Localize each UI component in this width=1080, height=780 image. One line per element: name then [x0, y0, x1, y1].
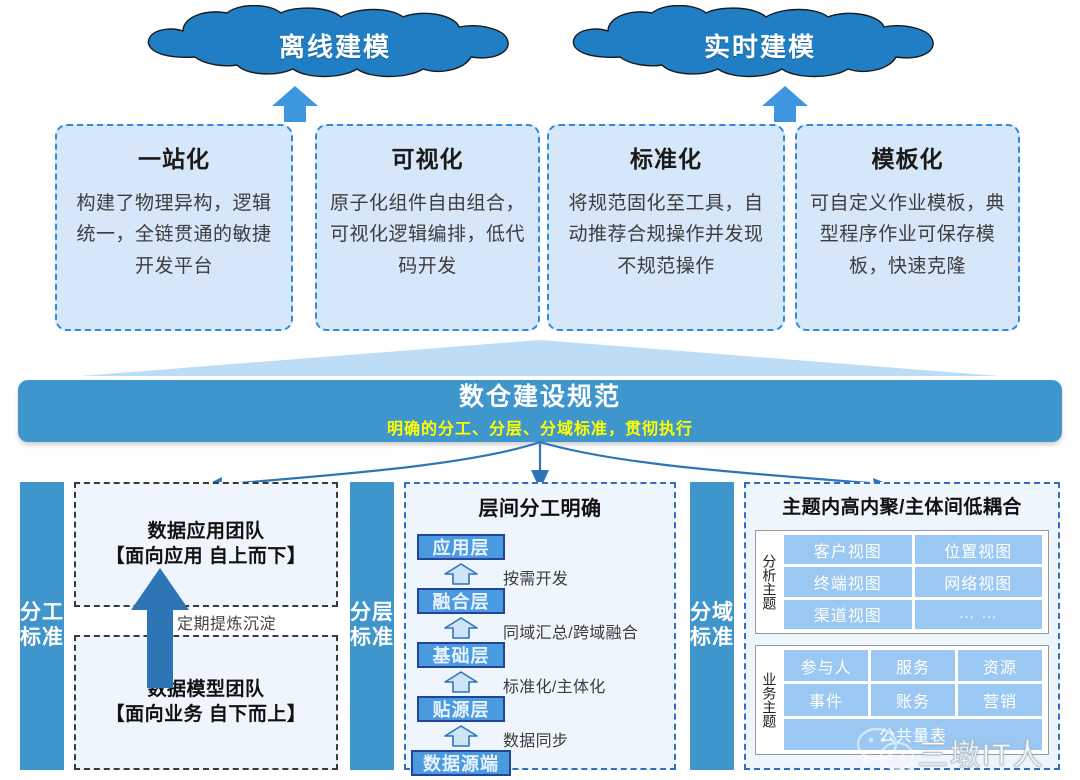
layer-label: 应用层 [433, 534, 490, 560]
vtab-layering-label: 分层标准 [350, 601, 394, 651]
feature-card-title: 标准化 [559, 140, 773, 174]
tag-item[interactable]: 营销 [958, 684, 1042, 715]
group-label-text: 分析主题 [762, 554, 777, 610]
layering-panel-title: 层间分工明确 [406, 492, 674, 521]
group-box-analysis-subject: 分析主题 客户视图 位置视图 终端视图 网络视图 渠道视图 … … [755, 530, 1049, 634]
banner-title: 数仓建设规范 [459, 383, 621, 412]
cloud-realtime-modeling: 实时建模 [560, 5, 960, 85]
group-label-text: 业务主题 [762, 672, 777, 728]
triangle-connector [80, 340, 1000, 378]
feature-card-title: 可视化 [327, 140, 528, 174]
vtab-division-label: 分工标准 [20, 601, 64, 651]
layer-note-1: 按需开发 [503, 565, 568, 589]
layer-box-foundation[interactable]: 基础层 [417, 642, 505, 668]
tag-item[interactable]: 网络视图 [915, 567, 1043, 596]
layer-note-4: 数据同步 [503, 727, 568, 751]
tag-item[interactable]: 事件 [784, 684, 868, 715]
layer-arrow-up-1 [444, 563, 478, 585]
vtab-division-standard[interactable]: 分工标准 [20, 482, 64, 770]
feature-card-title: 模板化 [807, 140, 1008, 174]
team-scope: 【面向应用 自上而下】 [106, 545, 307, 570]
layer-arrow-up-4 [444, 725, 478, 747]
banner-subtitle: 明确的分工、分层、分域标准，贯彻执行 [387, 415, 693, 439]
layer-label: 数据源端 [423, 750, 499, 776]
group-label-business: 业务主题 [756, 646, 782, 754]
vtab-domain-standard[interactable]: 分域标准 [690, 482, 734, 770]
layer-label: 融合层 [433, 588, 490, 614]
cloud-realtime-label: 实时建模 [704, 27, 816, 64]
feature-card-body: 构建了物理异构，逻辑统一，全链贯通的敏捷开发平台 [67, 188, 281, 282]
cloud-offline-label: 离线建模 [279, 27, 391, 64]
layer-box-data-source[interactable]: 数据源端 [411, 750, 511, 776]
arrow-up-to-offline-cloud [272, 86, 318, 122]
feature-card-standardization[interactable]: 标准化 将规范固化至工具，自动推荐合规操作并发现不规范操作 [547, 124, 785, 331]
layer-arrow-up-3 [444, 671, 478, 693]
diagram-canvas: 离线建模 实时建模 一站化 构建了物理异构，逻辑统一，全链贯通的敏捷开发平台 可… [0, 0, 1080, 780]
team-name: 数据应用团队 [147, 520, 264, 545]
layer-box-source-aligned[interactable]: 贴源层 [417, 696, 505, 722]
layer-note-3: 标准化/主体化 [503, 673, 606, 697]
layer-box-application[interactable]: 应用层 [417, 534, 505, 560]
vtab-layering-standard[interactable]: 分层标准 [350, 482, 394, 770]
layer-arrow-up-2 [444, 617, 478, 639]
feature-card-templating[interactable]: 模板化 可自定义作业模板，典型程序作业可保存模板，快速克隆 [795, 124, 1020, 331]
tag-item[interactable]: 客户视图 [784, 535, 912, 564]
feature-card-onestop[interactable]: 一站化 构建了物理异构，逻辑统一，全链贯通的敏捷开发平台 [55, 124, 293, 331]
team-scope: 【面向业务 自下而上】 [106, 703, 307, 728]
team-box-model[interactable]: 数据模型团队 【面向业务 自下而上】 [74, 635, 338, 770]
layer-label: 贴源层 [433, 696, 490, 722]
standards-banner: 数仓建设规范 明确的分工、分层、分域标准，贯彻执行 [18, 380, 1062, 442]
feature-card-visualization[interactable]: 可视化 原子化组件自由组合，可视化逻辑编排，低代码开发 [315, 124, 540, 331]
division-arrow-label: 定期提炼沉淀 [177, 610, 276, 634]
tag-item[interactable]: 终端视图 [784, 567, 912, 596]
feature-card-title: 一站化 [67, 140, 281, 174]
tag-item[interactable]: 账务 [871, 684, 955, 715]
cloud-offline-modeling: 离线建模 [135, 5, 535, 85]
arrow-up-to-realtime-cloud [762, 86, 808, 122]
watermark-text: 三墩IT人 [918, 730, 1045, 774]
feature-card-body: 将规范固化至工具，自动推荐合规操作并发现不规范操作 [559, 188, 773, 282]
domain-panel-title: 主题内高内聚/主体间低耦合 [746, 492, 1058, 519]
tag-grid-analysis: 客户视图 位置视图 终端视图 网络视图 渠道视图 … … [782, 531, 1048, 633]
layer-label: 基础层 [433, 642, 490, 668]
tag-item[interactable]: 服务 [871, 650, 955, 681]
team-box-application[interactable]: 数据应用团队 【面向应用 自上而下】 [74, 482, 338, 607]
tag-item[interactable]: 参与人 [784, 650, 868, 681]
layer-box-fusion[interactable]: 融合层 [417, 588, 505, 614]
tag-item[interactable]: 位置视图 [915, 535, 1043, 564]
tag-item-ellipsis[interactable]: … … [915, 600, 1043, 629]
group-label-analysis: 分析主题 [756, 531, 782, 633]
tag-item[interactable]: 资源 [958, 650, 1042, 681]
feature-card-body: 原子化组件自由组合，可视化逻辑编排，低代码开发 [327, 188, 528, 282]
feature-card-body: 可自定义作业模板，典型程序作业可保存模板，快速克隆 [807, 188, 1008, 282]
vtab-domain-label: 分域标准 [690, 601, 734, 651]
tag-item[interactable]: 渠道视图 [784, 600, 912, 629]
layer-note-2: 同域汇总/跨域融合 [503, 619, 638, 643]
